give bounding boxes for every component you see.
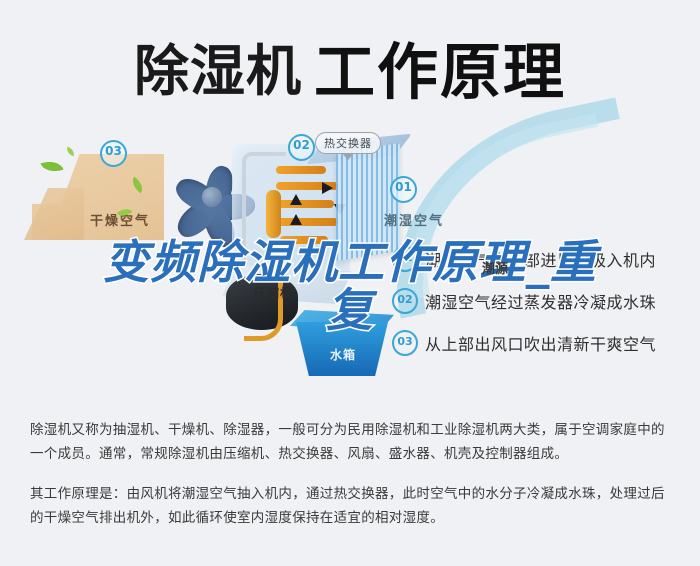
water-tank: 水箱 bbox=[290, 308, 394, 378]
diagram-marker-02: 02 bbox=[288, 134, 315, 161]
legend-text: 潮湿空气由下部进风口吸入机内 bbox=[425, 247, 656, 271]
body-copy: 除湿机又称为抽湿机、干燥机、除湿器，一般可分为民用除湿机和工业除湿机两大类，属于… bbox=[30, 418, 676, 546]
refrigerant-cylinder bbox=[266, 190, 281, 238]
copper-coil bbox=[276, 166, 326, 174]
airflow-arrow-up-icon bbox=[290, 194, 302, 205]
diagram-marker-01: 01 bbox=[390, 176, 417, 203]
title-part-one: 除湿机 bbox=[134, 26, 302, 106]
legend-number: 03 bbox=[392, 330, 418, 356]
copper-coil bbox=[280, 236, 328, 244]
title-part-two: 工作原理 bbox=[314, 22, 566, 111]
leaf-icon bbox=[40, 157, 63, 176]
page-title: 除湿机 工作原理 bbox=[0, 26, 700, 106]
copper-coil bbox=[278, 200, 334, 208]
legend-number: 02 bbox=[392, 288, 418, 314]
legend-item: 01 潮湿空气由下部进风口吸入机内 bbox=[392, 246, 692, 272]
diagram-marker-03: 03 bbox=[100, 140, 127, 167]
compressor-label: 压缩机 bbox=[254, 284, 293, 301]
airflow-arrow-up-icon bbox=[290, 214, 302, 225]
leaf-icon bbox=[65, 147, 76, 157]
evaporator-fins bbox=[336, 143, 400, 261]
humid-air-label: 潮湿空气 bbox=[384, 210, 444, 229]
paragraph-two: 其工作原理是：由风机将潮湿空气抽入机内，通过热交换器，此时空气中的水分子冷凝成水… bbox=[30, 482, 676, 530]
poster-root: 除湿机 工作原理 干燥空气 bbox=[0, 0, 700, 566]
legend-item: 03 从上部出风口吹出清新干爽空气 bbox=[392, 330, 692, 356]
steps-legend: 01 潮湿空气由下部进风口吸入机内 02 潮湿空气经过蒸发器冷凝成水珠 03 从… bbox=[392, 246, 692, 372]
water-tank-label: 水箱 bbox=[330, 346, 356, 363]
legend-text: 潮湿空气经过蒸发器冷凝成水珠 bbox=[425, 289, 656, 313]
copper-coil bbox=[272, 218, 338, 226]
legend-text: 从上部出风口吹出清新干爽空气 bbox=[425, 331, 656, 355]
legend-item: 02 潮湿空气经过蒸发器冷凝成水珠 bbox=[392, 288, 692, 314]
airflow-arrow-right-icon bbox=[322, 182, 333, 194]
legend-number: 01 bbox=[392, 246, 418, 272]
paragraph-one: 除湿机又称为抽湿机、干燥机、除湿器，一般可分为民用除湿机和工业除湿机两大类，属于… bbox=[30, 418, 676, 466]
heat-exchanger-callout: 热交换器 bbox=[315, 132, 381, 154]
fan-hub bbox=[202, 187, 222, 207]
